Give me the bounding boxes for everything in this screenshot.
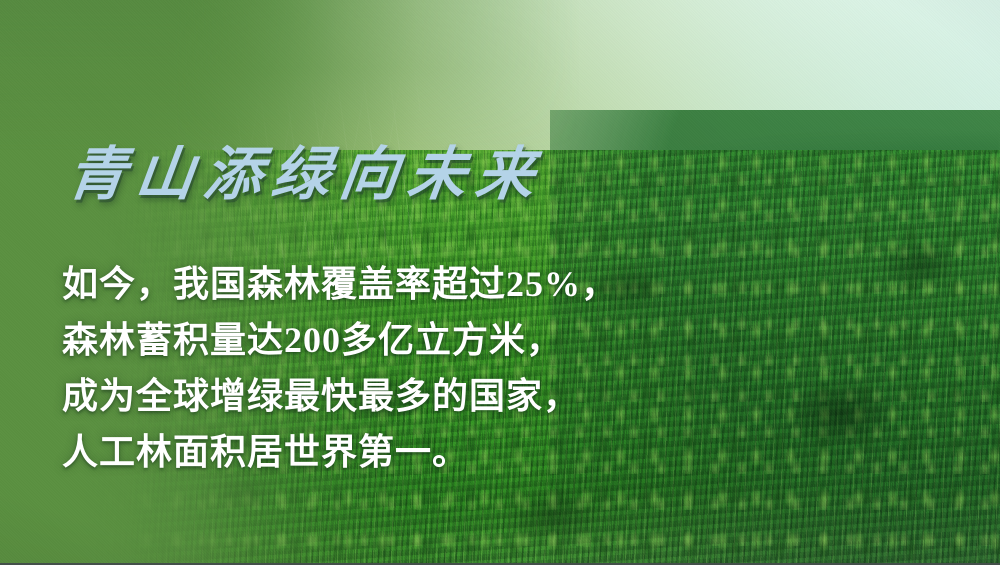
- body-line-2: 森林蓄积量达200多亿立方米，: [62, 312, 618, 368]
- slide-content: 青山添绿向未来 如今，我国森林覆盖率超过25%， 森林蓄积量达200多亿立方米，…: [0, 0, 1000, 563]
- body-line-3: 成为全球增绿最快最多的国家，: [62, 368, 618, 424]
- slide-body-copy: 如今，我国森林覆盖率超过25%， 森林蓄积量达200多亿立方米， 成为全球增绿最…: [62, 256, 618, 480]
- body-line-1: 如今，我国森林覆盖率超过25%，: [62, 256, 618, 312]
- slide-headline: 青山添绿向未来: [64, 146, 547, 204]
- body-line-4: 人工林面积居世界第一。: [62, 424, 618, 480]
- slide-canvas: 青山添绿向未来 如今，我国森林覆盖率超过25%， 森林蓄积量达200多亿立方米，…: [0, 0, 1000, 565]
